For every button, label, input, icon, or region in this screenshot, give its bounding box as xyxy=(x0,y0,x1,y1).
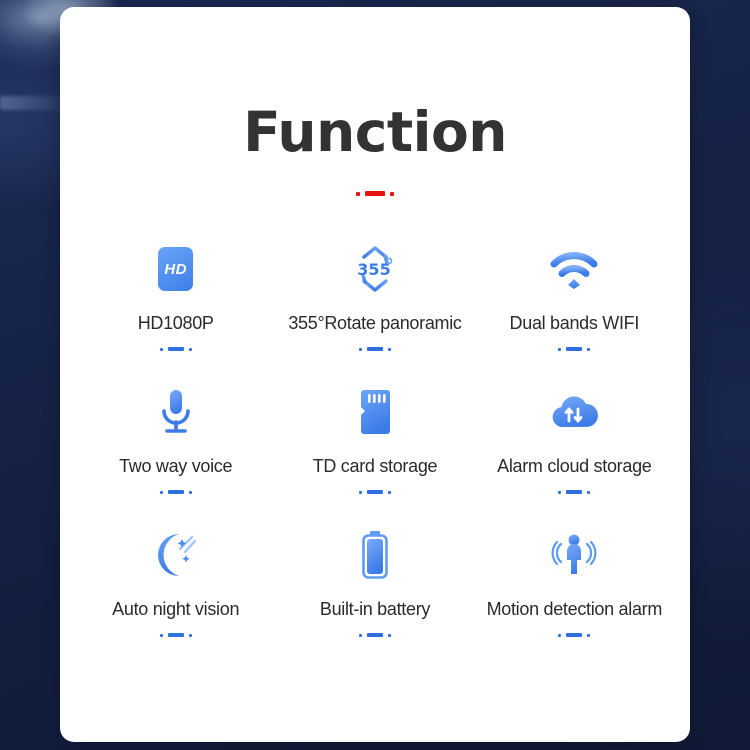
feature-item-td-card-storage: TD card storage xyxy=(275,384,474,494)
feature-divider xyxy=(558,633,590,637)
divider-bar xyxy=(168,347,184,351)
feature-label: Alarm cloud storage xyxy=(497,456,651,477)
feature-label: Auto night vision xyxy=(112,599,239,620)
feature-divider xyxy=(160,347,192,351)
title-divider xyxy=(60,191,690,196)
svg-text:355: 355 xyxy=(357,260,390,279)
page-title: Function xyxy=(60,100,690,164)
divider-dot-right xyxy=(189,348,192,351)
divider-dot-left xyxy=(356,192,360,196)
divider-dot-right xyxy=(189,491,192,494)
feature-item-auto-night-vision: Auto night vision xyxy=(76,527,275,637)
feature-label: Dual bands WIFI xyxy=(510,313,640,334)
feature-item-motion-detection-alarm: Motion detection alarm xyxy=(475,527,674,637)
feature-divider xyxy=(160,633,192,637)
divider-dot-right xyxy=(587,348,590,351)
divider-dot-left xyxy=(160,348,163,351)
feature-divider xyxy=(359,633,391,637)
feature-item-alarm-cloud-storage: Alarm cloud storage xyxy=(475,384,674,494)
divider-dot-left xyxy=(359,348,362,351)
divider-dot-left xyxy=(160,634,163,637)
feature-item-rotate-panoramic: 355 355°Rotate panoramic xyxy=(275,241,474,351)
divider-bar xyxy=(168,633,184,637)
hd-badge-icon: HD xyxy=(158,241,193,297)
feature-label: Built-in battery xyxy=(320,599,430,620)
feature-divider xyxy=(558,347,590,351)
divider-dot-left xyxy=(359,491,362,494)
divider-bar xyxy=(566,490,582,494)
feature-item-dual-bands-wifi: Dual bands WIFI xyxy=(475,241,674,351)
divider-dot-left xyxy=(558,634,561,637)
feature-grid: HD HD1080P xyxy=(60,241,690,637)
divider-dot-left xyxy=(160,491,163,494)
divider-bar xyxy=(367,490,383,494)
divider-dot-left xyxy=(558,491,561,494)
hd-badge-text: HD xyxy=(158,247,193,291)
divider-bar xyxy=(566,633,582,637)
feature-label: Two way voice xyxy=(119,456,232,477)
microphone-icon xyxy=(154,384,198,440)
motion-detection-icon xyxy=(546,527,602,583)
divider-dot-right xyxy=(388,491,391,494)
sd-card-icon xyxy=(354,384,396,440)
feature-item-hd1080p: HD HD1080P xyxy=(76,241,275,351)
rotate-panoramic-icon: 355 xyxy=(349,241,401,297)
divider-bar xyxy=(365,191,385,196)
feature-divider xyxy=(558,490,590,494)
divider-dot-left xyxy=(359,634,362,637)
divider-bar xyxy=(168,490,184,494)
divider-dot-right xyxy=(388,634,391,637)
divider-bar xyxy=(367,347,383,351)
divider-dot-left xyxy=(558,348,561,351)
feature-label: TD card storage xyxy=(313,456,438,477)
battery-icon xyxy=(357,527,393,583)
feature-divider xyxy=(160,490,192,494)
feature-label: HD1080P xyxy=(138,313,214,334)
divider-bar xyxy=(566,347,582,351)
divider-dot-right xyxy=(390,192,394,196)
feature-label: Motion detection alarm xyxy=(487,599,663,620)
divider-dot-right xyxy=(388,348,391,351)
feature-item-two-way-voice: Two way voice xyxy=(76,384,275,494)
divider-dot-right xyxy=(189,634,192,637)
divider-dot-right xyxy=(587,634,590,637)
wifi-icon xyxy=(549,241,599,297)
feature-card: Function HD HD1080P xyxy=(60,7,690,742)
feature-divider xyxy=(359,490,391,494)
divider-dot-right xyxy=(587,491,590,494)
feature-divider xyxy=(359,347,391,351)
divider-bar xyxy=(367,633,383,637)
feature-item-built-in-battery: Built-in battery xyxy=(275,527,474,637)
moon-night-vision-icon xyxy=(149,527,203,583)
cloud-storage-icon xyxy=(546,384,602,440)
feature-label: 355°Rotate panoramic xyxy=(288,313,461,334)
